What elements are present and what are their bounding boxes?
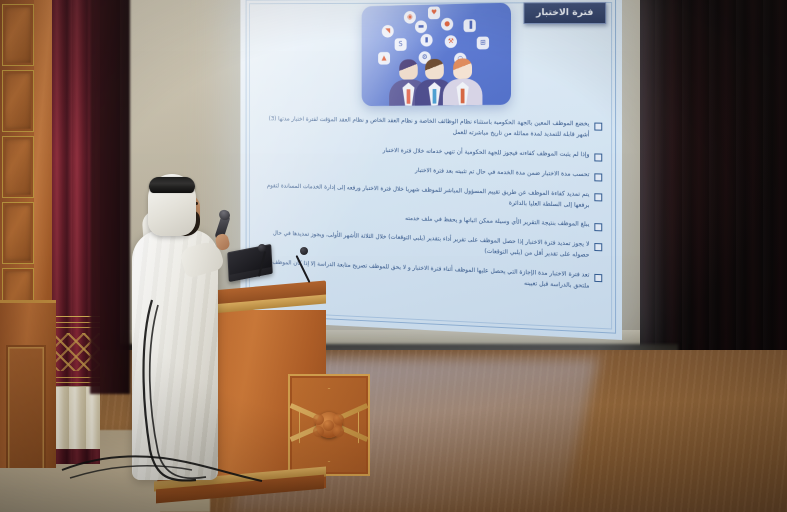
- slide-bullet: يتم تمديد كفاءة الموظف عن طريق تقييم الم…: [258, 181, 602, 212]
- person-head: [453, 58, 472, 79]
- presenter: [120, 172, 240, 492]
- wood-base-panel: [6, 345, 46, 479]
- wood-wall-panel: [2, 202, 34, 264]
- wood-wall-panel: [2, 70, 34, 132]
- slide-bullet-text: يبلغ الموظف بنتيجة التقرير الأي وسيلة مم…: [405, 214, 589, 231]
- curtain-cream-hem: [52, 386, 100, 449]
- person-head: [425, 59, 444, 80]
- mic-capsule: [300, 247, 308, 255]
- person-right: [443, 58, 483, 105]
- slide-bullet-text: لا يجوز تمديد فترة الاختبار إذا حصل المو…: [258, 229, 590, 262]
- wood-wall-panel: [2, 136, 34, 198]
- heart-icon: ♥: [428, 6, 440, 19]
- bullet-marker-icon: [594, 123, 602, 131]
- rosette-petal: [313, 426, 324, 437]
- slide-bullet-text: يتم تمديد كفاءة الموظف عن طريق تقييم الم…: [258, 181, 590, 211]
- person-torso: [443, 79, 483, 106]
- slide-bullet-text: وإذا لم يثبت الموظف كفاءته فيجوز للجهة ا…: [383, 146, 590, 161]
- lectern-carved-medallion: [288, 374, 370, 476]
- agal-cord-lower: [150, 186, 194, 193]
- slide-bullet-list: يخضع الموظف المعين بالجهة الحكومية باستث…: [258, 114, 602, 302]
- slide-bullet: لا يجوز تمديد فترة الاختبار إذا حصل المو…: [258, 229, 602, 263]
- bullet-marker-icon: [594, 223, 602, 231]
- rosette-petal: [333, 426, 344, 437]
- slide-bullet: يبلغ الموظف بنتيجة التقرير الأي وسيلة مم…: [258, 210, 602, 232]
- bullet-marker-icon: [594, 243, 602, 251]
- bar-chart-icon: ▐: [464, 19, 476, 32]
- person-tie: [433, 89, 437, 104]
- gooseneck-mic-right: [300, 247, 308, 255]
- slide-bullet: تحسب مدة الاختبار ضمن مدة الخدمة في حال …: [258, 162, 602, 181]
- dollar-icon: S: [395, 38, 407, 51]
- person-tie: [461, 89, 465, 104]
- slide-bullet: يخضع الموظف المعين بالجهة الحكومية باستث…: [258, 114, 602, 141]
- slide-illustration: ◉♥◥▬●▐S▮⚒⊞▲⚙○: [362, 3, 511, 106]
- bullet-marker-icon: [594, 274, 602, 282]
- rosette-petal: [333, 414, 344, 425]
- slide-title-ribbon: فترة الاختبار: [524, 2, 607, 24]
- slide-bullet-text: تحسب مدة الاختبار ضمن مدة الخدمة في حال …: [415, 166, 590, 181]
- bullet-marker-icon: [594, 153, 602, 161]
- carved-rosette: [316, 412, 342, 438]
- rosette-petal: [323, 420, 334, 431]
- person-tie: [407, 89, 411, 104]
- slide-bullet: وإذا لم يثبت الموظف كفاءته فيجوز للجهة ا…: [258, 143, 602, 161]
- slide-bullet-text: يخضع الموظف المعين بالجهة الحكومية باستث…: [258, 114, 590, 141]
- wood-wall-panel: [2, 4, 34, 66]
- gooseneck-mic-left: [258, 244, 266, 252]
- bullet-marker-icon: [594, 173, 602, 181]
- calculator-icon: ⊞: [477, 37, 489, 50]
- bullet-marker-icon: [594, 193, 602, 201]
- presentation-photo: فترة الاختبار ◉♥◥▬●▐S▮⚒⊞▲⚙○ يخضع الموظف …: [0, 0, 787, 512]
